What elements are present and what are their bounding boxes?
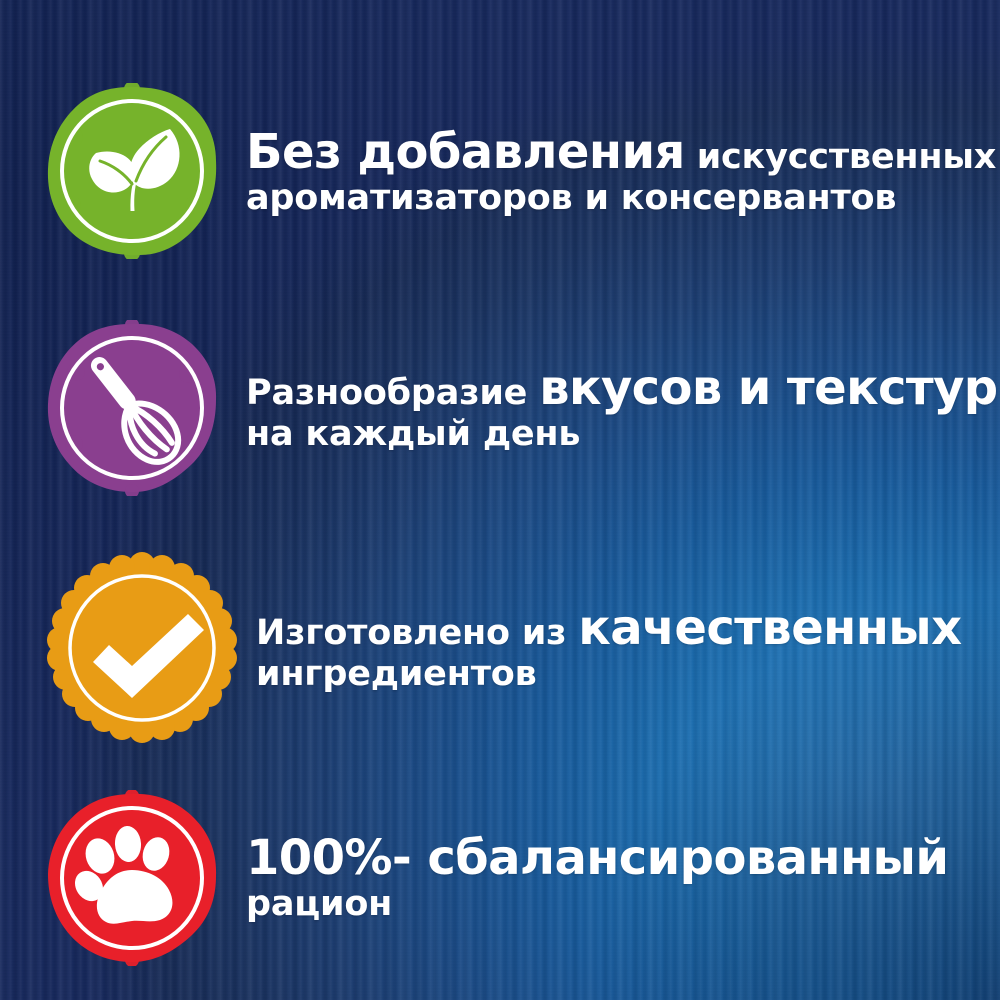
- benefit-emphasis-text: качественных: [578, 600, 961, 656]
- infographic-canvas: Без добавления искусственных ароматизато…: [0, 0, 1000, 1000]
- benefit-normal-text: искусственных: [685, 137, 996, 177]
- benefit-line-2: ингредиентов: [256, 655, 961, 694]
- benefit-emphasis-text: Без добавления: [246, 124, 685, 180]
- badge-scallops: [47, 552, 237, 743]
- benefit-line-2: рацион: [246, 885, 960, 924]
- whisk-badge-svg: [44, 320, 220, 496]
- badge-variety: [44, 320, 220, 496]
- badge-quality: [44, 550, 240, 746]
- benefit-row-balanced: 100%- сбалансированный рацион: [44, 790, 960, 966]
- benefit-row-variety: Разнообразие вкусов и текстур на каждый …: [44, 320, 960, 496]
- benefit-line-2: ароматизаторов и консервантов: [246, 179, 996, 218]
- benefit-line-1: Без добавления искусственных: [246, 126, 996, 180]
- checkmark-badge-svg: [44, 550, 240, 746]
- benefit-normal-text: Разнообразие: [246, 373, 539, 413]
- benefit-text-balanced: 100%- сбалансированный рацион: [246, 832, 960, 925]
- benefit-line-2: на каждый день: [246, 415, 998, 454]
- benefit-line-1: Изготовлено из качественных: [256, 602, 961, 656]
- benefit-row-quality: Изготовлено из качественных ингредиентов: [44, 550, 960, 746]
- benefit-normal-text: Изготовлено из: [256, 613, 578, 653]
- benefit-row-no-additives: Без добавления искусственных ароматизато…: [44, 83, 960, 259]
- paw-badge-svg: [44, 790, 220, 966]
- benefit-line-1: Разнообразие вкусов и текстур: [246, 362, 998, 416]
- benefit-line-1: 100%- сбалансированный: [246, 832, 960, 886]
- badge-no-additives: [44, 83, 220, 259]
- badge-balanced: [44, 790, 220, 966]
- benefit-text-quality: Изготовлено из качественных ингредиентов: [256, 602, 961, 695]
- leaves-badge-svg: [44, 83, 220, 259]
- benefit-text-no-additives: Без добавления искусственных ароматизато…: [246, 126, 996, 219]
- benefit-text-variety: Разнообразие вкусов и текстур на каждый …: [246, 362, 998, 455]
- benefit-emphasis-text: вкусов и текстур: [539, 360, 997, 416]
